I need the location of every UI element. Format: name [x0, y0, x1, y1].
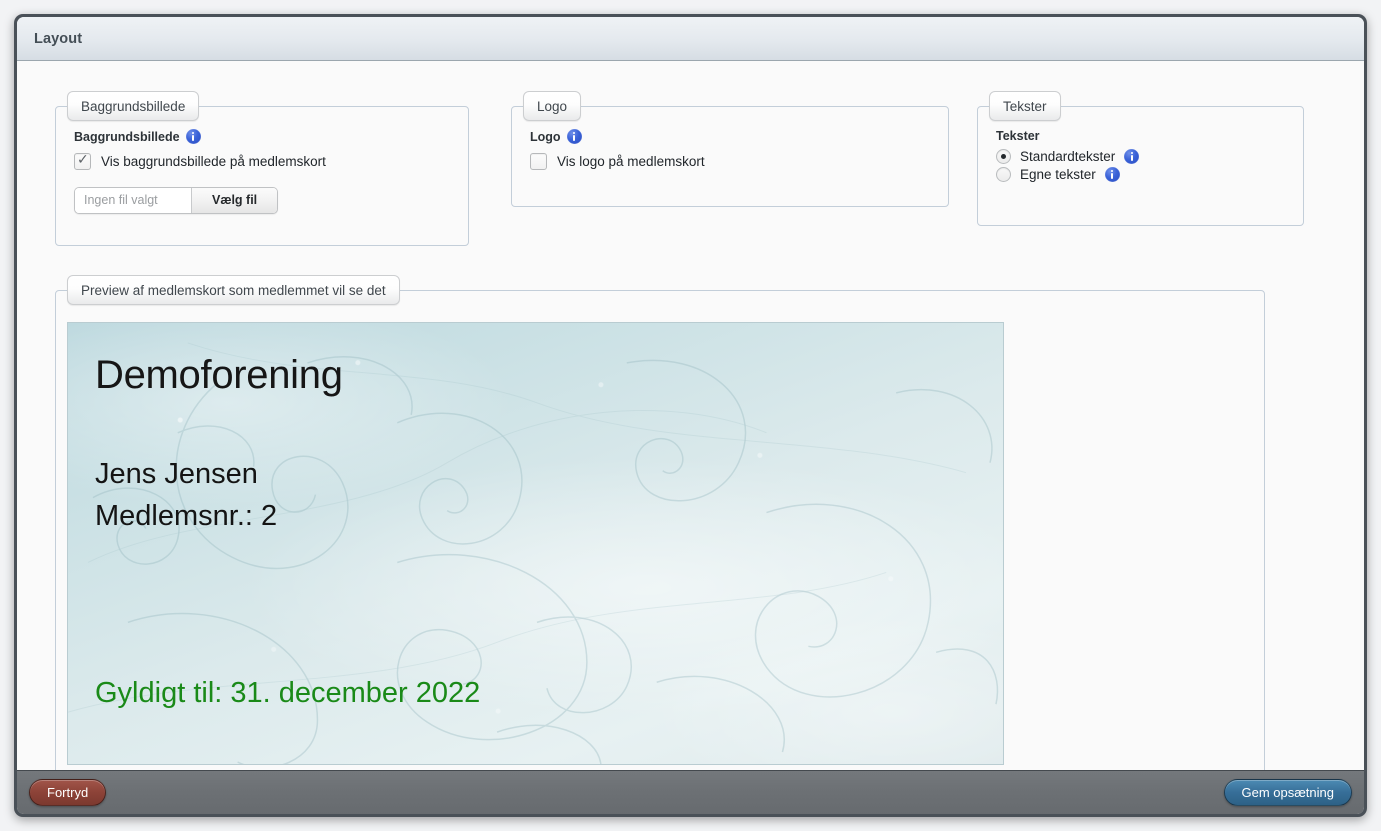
- radio-row-own-texts[interactable]: Egne tekster: [996, 167, 1285, 182]
- field-label-background-image: Baggrundsbillede: [74, 129, 450, 144]
- info-icon[interactable]: [1105, 167, 1120, 182]
- card-valid-until: Gyldigt til: 31. december 2022: [95, 677, 480, 710]
- field-label-text: Tekster: [996, 129, 1040, 143]
- panel-preview: Preview af medlemskort som medlemmet vil…: [55, 290, 1265, 770]
- cancel-button[interactable]: Fortryd: [29, 779, 106, 806]
- panel-legend-logo: Logo: [523, 91, 581, 121]
- page-title: Layout: [34, 31, 82, 47]
- panel-legend-texts: Tekster: [989, 91, 1061, 121]
- field-label-logo: Logo: [530, 129, 930, 144]
- card-member-name: Jens Jensen: [95, 458, 258, 491]
- dialog-footer: Fortryd Gem opsætning: [17, 770, 1364, 814]
- radio-label-standard-texts: Standardtekster: [1020, 149, 1115, 164]
- field-label-text: Baggrundsbillede: [74, 130, 180, 144]
- info-icon[interactable]: [567, 129, 582, 144]
- dialog-body: Baggrundsbillede Baggrundsbillede Vis ba…: [17, 61, 1364, 770]
- checkbox-show-logo[interactable]: [530, 153, 547, 170]
- radio-row-standard-texts[interactable]: Standardtekster: [996, 149, 1285, 164]
- radio-own-texts[interactable]: [996, 167, 1011, 182]
- checkbox-label-show-background: Vis baggrundsbillede på medlemskort: [101, 154, 326, 169]
- dialog-inner: Layout Baggrundsbillede Baggrundsbillede…: [17, 17, 1364, 814]
- info-icon[interactable]: [1124, 149, 1139, 164]
- field-label-text: Logo: [530, 130, 561, 144]
- checkbox-row-show-logo[interactable]: Vis logo på medlemskort: [530, 153, 930, 170]
- panel-legend-background-image: Baggrundsbillede: [67, 91, 199, 121]
- radio-label-own-texts: Egne tekster: [1020, 167, 1096, 182]
- layout-dialog: Layout Baggrundsbillede Baggrundsbillede…: [14, 14, 1367, 817]
- checkbox-row-show-background[interactable]: Vis baggrundsbillede på medlemskort: [74, 153, 450, 170]
- radio-standard-texts[interactable]: [996, 149, 1011, 164]
- panel-body-background-image: Baggrundsbillede Vis baggrundsbillede på…: [56, 107, 468, 228]
- checkbox-show-background[interactable]: [74, 153, 91, 170]
- file-picker-background-image[interactable]: Ingen fil valgt Vælg fil: [74, 187, 278, 214]
- field-label-texts: Tekster: [996, 129, 1285, 143]
- panel-texts: Tekster Tekster Standardtekster Egne tek…: [977, 106, 1304, 226]
- panel-logo: Logo Logo Vis logo på medlemskort: [511, 106, 949, 207]
- checkbox-label-show-logo: Vis logo på medlemskort: [557, 154, 705, 169]
- card-member-number: Medlemsnr.: 2: [95, 500, 277, 533]
- save-button[interactable]: Gem opsætning: [1224, 779, 1353, 806]
- panel-legend-preview: Preview af medlemskort som medlemmet vil…: [67, 275, 400, 305]
- info-icon[interactable]: [186, 129, 201, 144]
- panel-background-image: Baggrundsbillede Baggrundsbillede Vis ba…: [55, 106, 469, 246]
- card-organisation-name: Demoforening: [95, 353, 343, 398]
- membership-card-preview: Demoforening Jens Jensen Medlemsnr.: 2 G…: [67, 322, 1004, 765]
- file-name-display: Ingen fil valgt: [75, 188, 191, 213]
- choose-file-button[interactable]: Vælg fil: [191, 188, 277, 213]
- dialog-titlebar: Layout: [17, 17, 1364, 61]
